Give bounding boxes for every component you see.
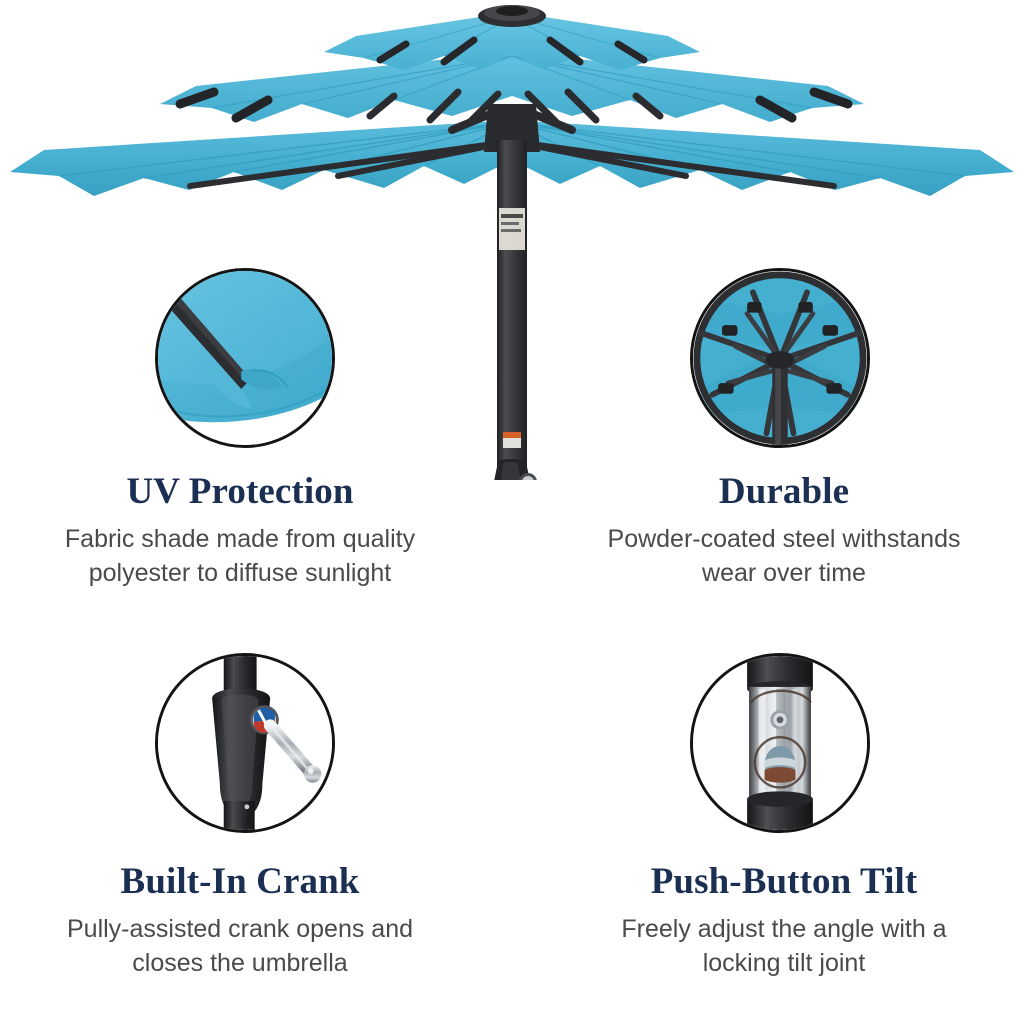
feature-description-line-1: Freely adjust the angle with a [554, 912, 1014, 946]
feature-description-line-2: polyester to diffuse sunlight [10, 556, 470, 590]
feature-built-in-crank: Built-In Crank Pully-assisted crank open… [10, 860, 470, 980]
feature-durable: Durable Powder-coated steel withstands w… [554, 470, 1014, 590]
feature-description: Fabric shade made from quality polyester… [10, 522, 470, 590]
feature-push-button-tilt: Push-Button Tilt Freely adjust the angle… [554, 860, 1014, 980]
hero-product-image [0, 0, 1024, 480]
feature-uv-protection: UV Protection Fabric shade made from qua… [10, 470, 470, 590]
feature-title: UV Protection [10, 470, 470, 514]
feature-description-line-1: Pully-assisted crank opens and [10, 912, 470, 946]
infographic-canvas: UV Protection Fabric shade made from qua… [0, 0, 1024, 1024]
feature-description: Pully-assisted crank opens and closes th… [10, 912, 470, 980]
underside-frame-detail [690, 268, 870, 448]
feature-description-line-1: Powder-coated steel withstands [554, 522, 1014, 556]
feature-description-line-2: wear over time [554, 556, 1014, 590]
center-pole [497, 140, 527, 480]
feature-description: Freely adjust the angle with a locking t… [554, 912, 1014, 980]
feature-title: Push-Button Tilt [554, 860, 1014, 904]
feature-description-line-2: locking tilt joint [554, 946, 1014, 980]
tilt-joint-detail [690, 653, 870, 833]
feature-description-line-2: closes the umbrella [10, 946, 470, 980]
crank-housing [491, 459, 547, 480]
feature-title: Durable [554, 470, 1014, 514]
feature-description: Powder-coated steel withstands wear over… [554, 522, 1014, 590]
crank-handle-detail [155, 653, 335, 833]
feature-title: Built-In Crank [10, 860, 470, 904]
feature-description-line-1: Fabric shade made from quality [10, 522, 470, 556]
fabric-closeup-detail [155, 268, 335, 448]
